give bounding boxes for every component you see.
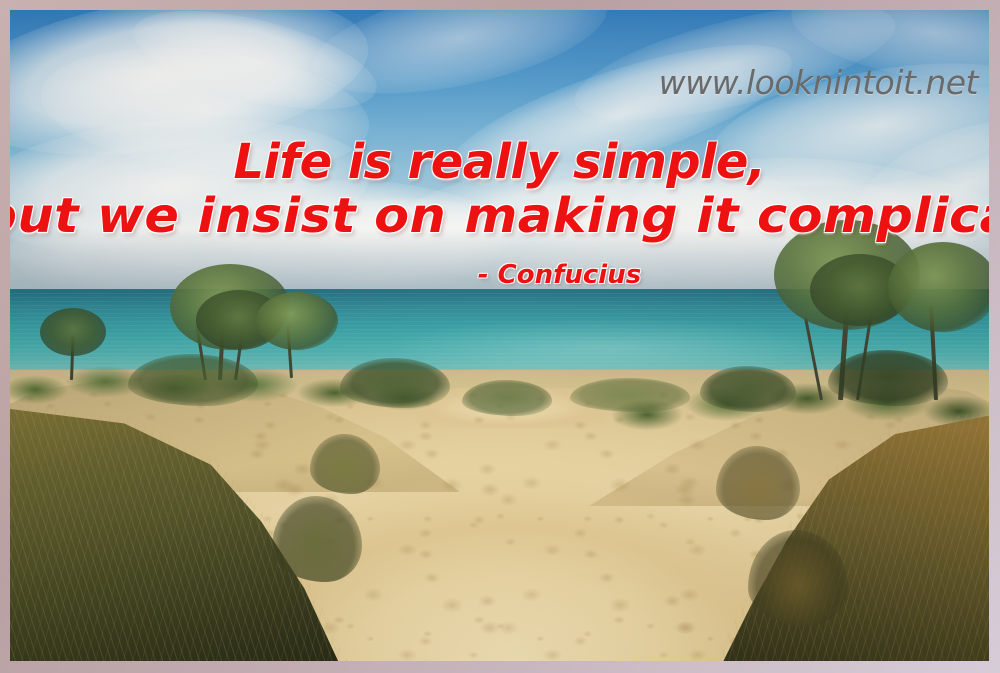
tree-far-left [38, 310, 108, 380]
tree-left-small [250, 292, 340, 378]
tree-canopy [256, 292, 338, 350]
photograph: www.looknintoit.net Life is really simpl… [10, 10, 989, 661]
watermark-url: www.looknintoit.net [659, 63, 978, 102]
shrub-clump [462, 380, 552, 416]
cloud [124, 10, 386, 129]
tree-canopy [40, 308, 106, 356]
quote-poster: www.looknintoit.net Life is really simpl… [0, 0, 1000, 673]
quote-line-2: but we insist on making it complicated. [10, 192, 989, 240]
quote-line-1: Life is really simple, [10, 138, 989, 186]
shrub-clump [570, 378, 690, 412]
quote-attribution: - Confucius [10, 260, 989, 290]
tree-trunk [804, 317, 823, 400]
quote-block: Life is really simple, but we insist on … [10, 138, 989, 240]
sand-footprint-texture [10, 382, 989, 661]
cloud [303, 10, 616, 115]
